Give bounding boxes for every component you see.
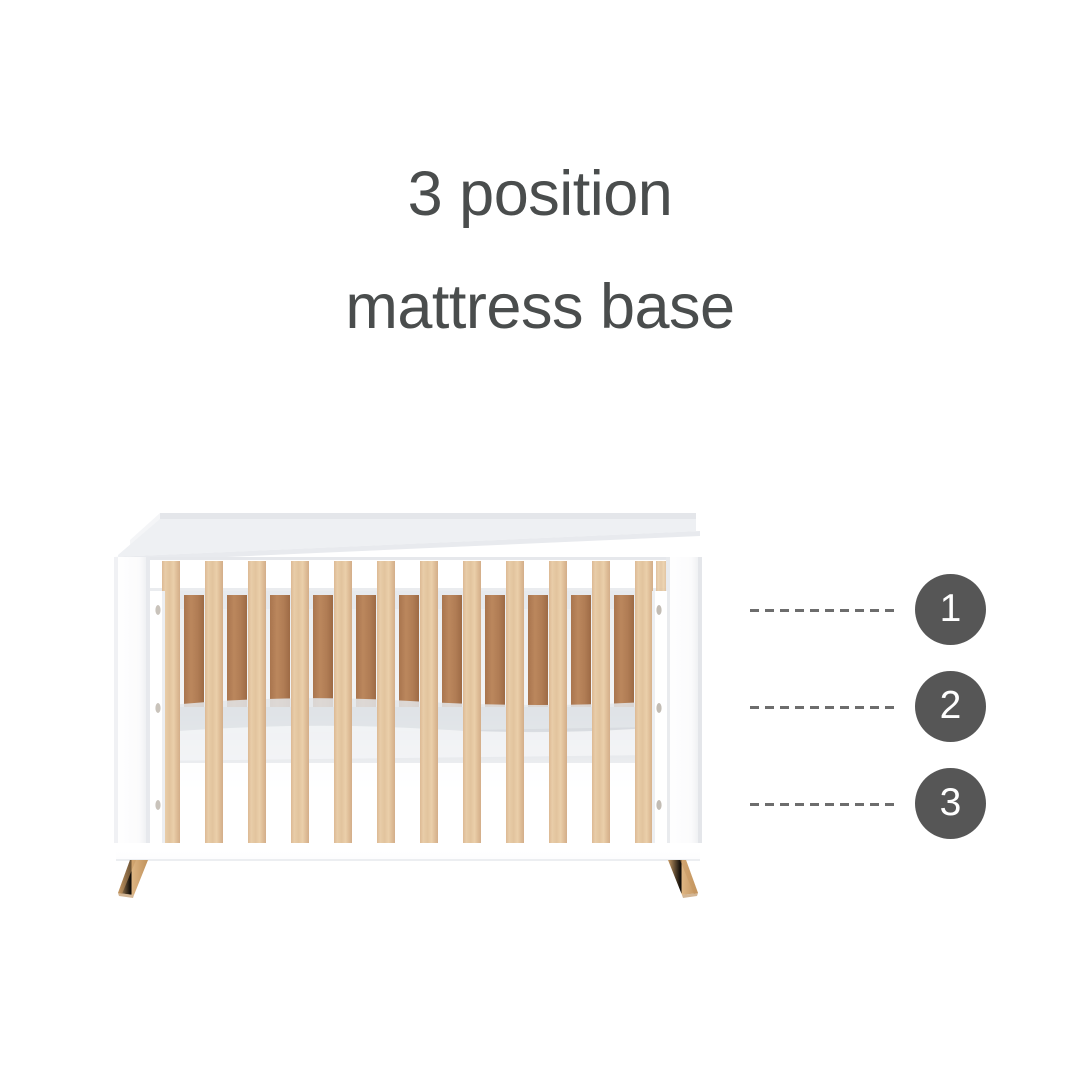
crib-lower-panel [114, 843, 702, 863]
mattress-position-2[interactable]: 2 [745, 671, 995, 747]
position-badge-2[interactable]: 2 [915, 671, 986, 742]
position-badge-3-label: 3 [940, 783, 962, 822]
infographic-canvas: 3 position mattress base [0, 0, 1080, 1080]
leader-line-1 [750, 609, 898, 612]
mattress-position-3[interactable]: 3 [745, 768, 995, 844]
position-badge-1[interactable]: 1 [915, 574, 986, 645]
crib-illustration [100, 495, 720, 905]
leader-line-3 [750, 803, 898, 806]
page-title: 3 position mattress base [0, 138, 1080, 365]
position-badge-3[interactable]: 3 [915, 768, 986, 839]
position-badge-2-label: 2 [940, 686, 962, 725]
leader-line-2 [750, 706, 898, 709]
crib-mattress [152, 698, 662, 853]
page-title-line-2: mattress base [345, 272, 734, 342]
mattress-position-1[interactable]: 1 [745, 574, 995, 650]
crib-top-rail [114, 513, 700, 591]
page-title-line-1: 3 position [408, 159, 673, 229]
crib-legs [118, 860, 698, 898]
position-badge-1-label: 1 [940, 589, 962, 628]
